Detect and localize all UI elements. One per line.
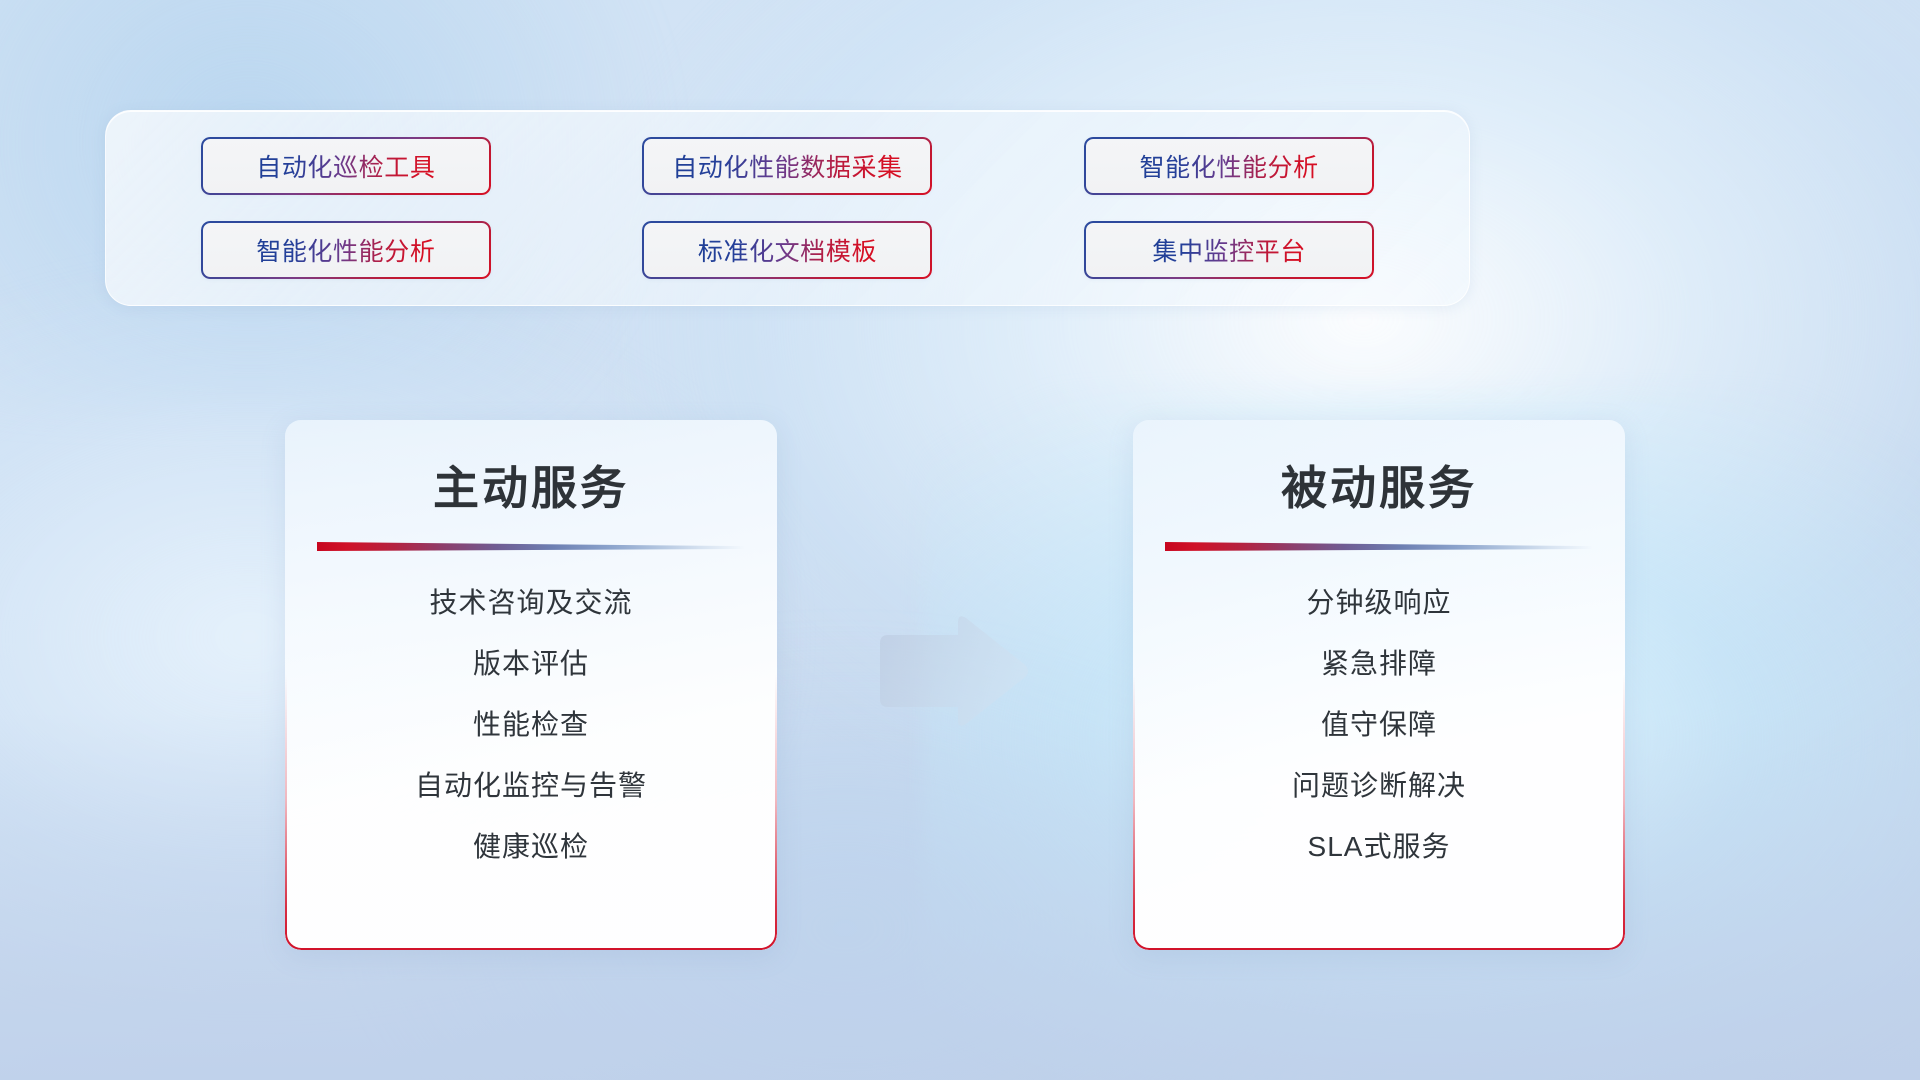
service-list-item: 健康巡检 [473, 829, 589, 864]
service-list-item: 技术咨询及交流 [429, 585, 632, 620]
service-item-list: 分钟级响应 紧急排障 值守保障 问题诊断解决 SLA式服务 [1133, 585, 1625, 864]
card-divider-gradient [317, 540, 745, 551]
service-list-item: 自动化监控与告警 [415, 768, 647, 803]
arrow-right-icon [872, 612, 1032, 730]
capability-panel: 自动化巡检工具 自动化性能数据采集 智能化性能分析 智能化性能分析 标准化文档模… [105, 110, 1470, 306]
service-card-active: 主动服务 技术咨询及交流 版本评估 性能检查 自动化监控与告警 健康巡检 [285, 420, 777, 950]
capability-pill-2[interactable]: 自动化性能数据采集 [642, 137, 932, 195]
capability-pill-label: 智能化性能分析 [256, 232, 435, 268]
capability-pill-label: 集中监控平台 [1152, 232, 1306, 268]
capability-pill-4[interactable]: 智能化性能分析 [201, 221, 491, 279]
service-list-item: 值守保障 [1321, 707, 1437, 742]
capability-pill-1[interactable]: 自动化巡检工具 [201, 137, 491, 195]
service-list-item: 问题诊断解决 [1292, 768, 1466, 803]
service-list-item: SLA式服务 [1308, 829, 1451, 864]
service-list-item: 性能检查 [473, 707, 589, 742]
service-list-item: 分钟级响应 [1306, 585, 1451, 620]
capability-pill-label: 自动化性能数据采集 [672, 148, 902, 184]
capability-pill-label: 标准化文档模板 [698, 232, 877, 268]
card-title: 被动服务 [1133, 452, 1625, 518]
service-item-list: 技术咨询及交流 版本评估 性能检查 自动化监控与告警 健康巡检 [285, 585, 777, 864]
capability-pill-6[interactable]: 集中监控平台 [1084, 221, 1374, 279]
card-title-divider [317, 540, 745, 551]
service-card-passive: 被动服务 分钟级响应 紧急排障 值守保障 问题诊断解决 SLA式服务 [1133, 420, 1625, 950]
capability-pill-5[interactable]: 标准化文档模板 [642, 221, 932, 279]
card-divider-gradient [1165, 540, 1593, 551]
capability-pill-label: 智能化性能分析 [1140, 148, 1319, 184]
capability-pill-label: 自动化巡检工具 [256, 148, 435, 184]
card-title: 主动服务 [285, 452, 777, 518]
card-title-divider [1165, 540, 1593, 551]
capability-pill-3[interactable]: 智能化性能分析 [1084, 137, 1374, 195]
service-list-item: 紧急排障 [1321, 646, 1437, 681]
service-list-item: 版本评估 [473, 646, 589, 681]
